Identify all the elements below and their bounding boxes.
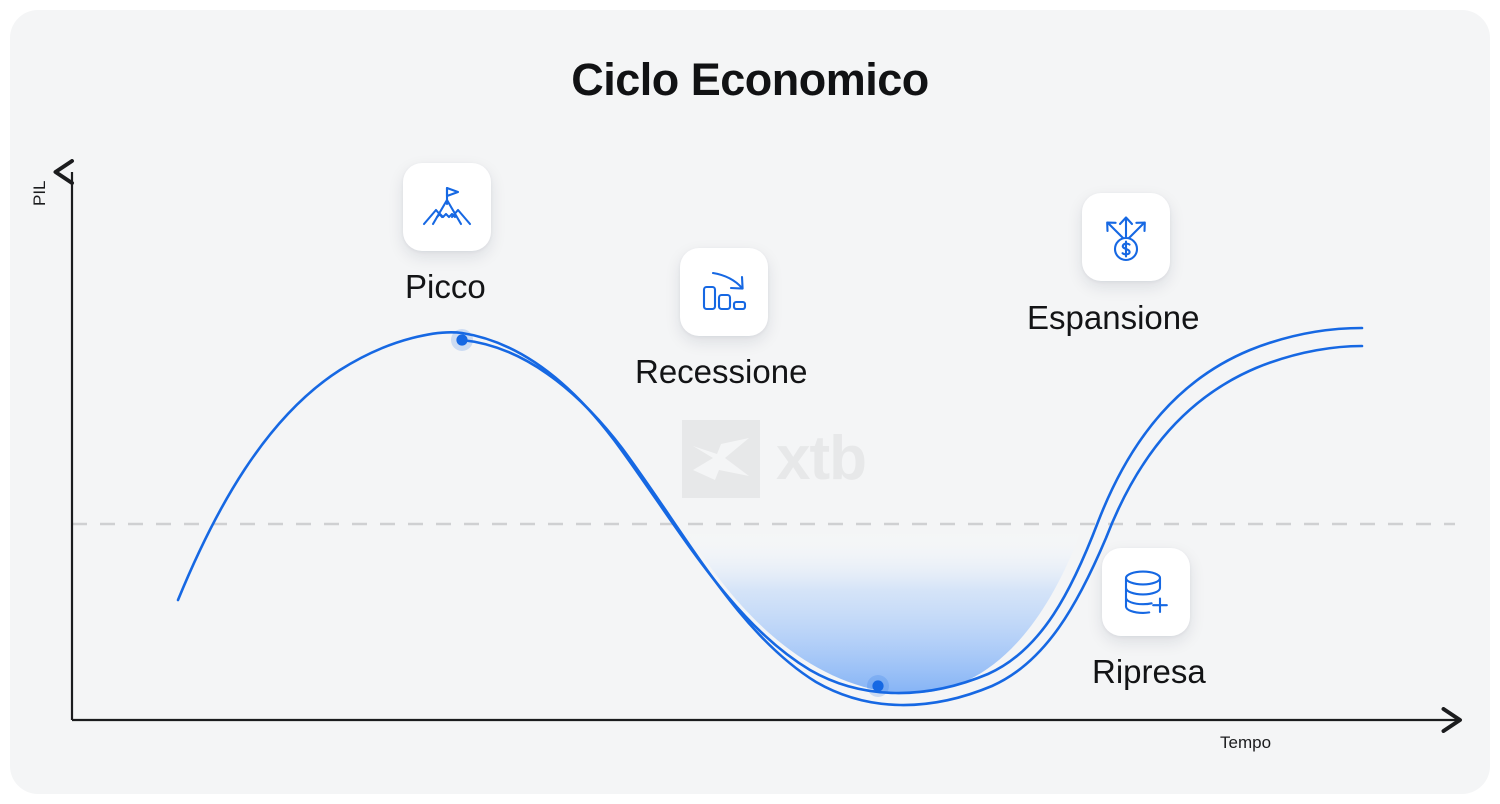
stage-icon-card-recessione (680, 248, 768, 336)
stage-label-recessione: Recessione (635, 353, 807, 391)
stage-label-ripresa: Ripresa (1092, 653, 1206, 691)
stage-icon-card-espansione (1082, 193, 1170, 281)
x-axis-label: Tempo (1220, 733, 1271, 753)
y-axis-label: PIL (30, 180, 50, 206)
diagram-card: Ciclo Economico (10, 10, 1490, 794)
database-plus-icon (1119, 565, 1173, 619)
declining-bars-arrow-icon (697, 265, 751, 319)
trough-marker-dot (872, 680, 883, 691)
peak-marker-dot (456, 334, 467, 345)
stage-label-espansione: Espansione (1027, 299, 1199, 337)
mountain-peak-flag-icon (420, 180, 474, 234)
screenshot-root: Ciclo Economico (0, 0, 1500, 804)
economic-cycle-chart (10, 10, 1490, 794)
stage-icon-card-ripresa (1102, 548, 1190, 636)
stage-label-picco: Picco (405, 268, 486, 306)
stage-icon-card-picco (403, 163, 491, 251)
dollar-coin-arrows-icon (1099, 210, 1153, 264)
